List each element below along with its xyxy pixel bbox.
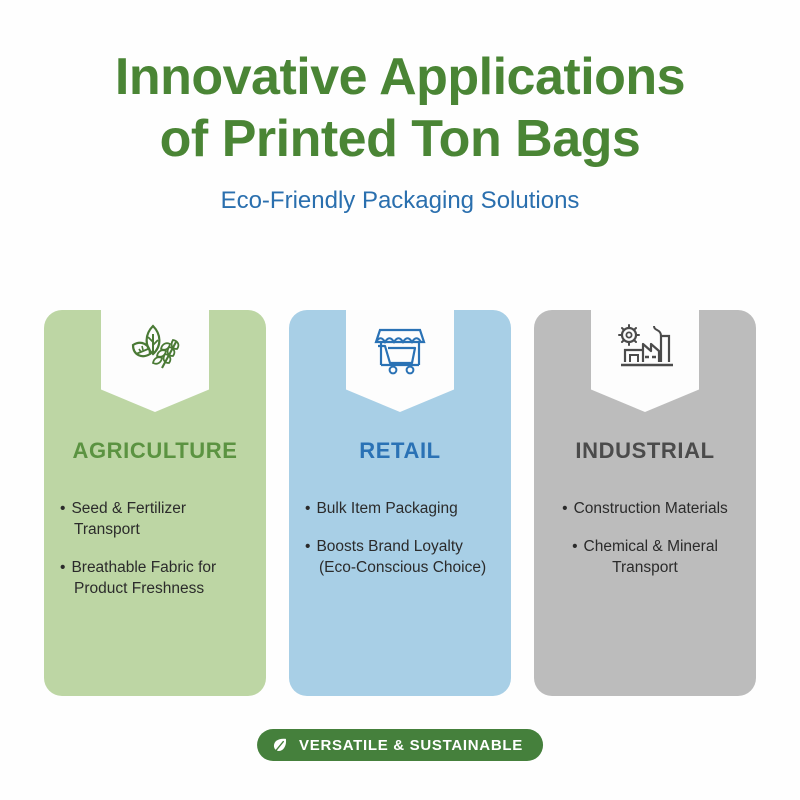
page-title: Innovative Applications of Printed Ton B… — [0, 46, 800, 170]
icon-banner-industrial — [591, 310, 699, 412]
leaf-icon — [271, 736, 289, 754]
list-item: Breathable Fabric for Product Freshness — [60, 557, 250, 599]
card-industrial: INDUSTRIAL Construction Materials Chemic… — [534, 310, 756, 696]
card-bullets-agriculture: Seed & Fertilizer Transport Breathable F… — [44, 498, 266, 599]
icon-banner-agriculture — [101, 310, 209, 412]
leaf-wheat-icon — [123, 318, 187, 378]
title-line-2: of Printed Ton Bags — [0, 108, 800, 170]
card-agriculture: AGRICULTURE Seed & Fertilizer Transport … — [44, 310, 266, 696]
list-item: Construction Materials — [550, 498, 740, 519]
badge-label: VERSATILE & SUSTAINABLE — [299, 737, 523, 754]
card-title-retail: RETAIL — [289, 438, 511, 464]
page-subtitle: Eco-Friendly Packaging Solutions — [0, 186, 800, 216]
card-title-agriculture: AGRICULTURE — [44, 438, 266, 464]
status-badge: VERSATILE & SUSTAINABLE — [257, 729, 543, 761]
title-line-1: Innovative Applications — [0, 46, 800, 108]
card-retail: RETAIL Bulk Item Packaging Boosts Brand … — [289, 310, 511, 696]
card-bullets-industrial: Construction Materials Chemical & Minera… — [534, 498, 756, 578]
card-bullets-retail: Bulk Item Packaging Boosts Brand Loyalty… — [289, 498, 511, 578]
icon-banner-retail — [346, 310, 454, 412]
list-item: Seed & Fertilizer Transport — [60, 498, 250, 540]
infographic-poster: Innovative Applications of Printed Ton B… — [0, 0, 800, 800]
card-title-industrial: INDUSTRIAL — [534, 438, 756, 464]
list-item: Boosts Brand Loyalty (Eco-Conscious Choi… — [305, 536, 495, 578]
market-stall-cart-icon — [368, 318, 432, 378]
card-row: AGRICULTURE Seed & Fertilizer Transport … — [44, 310, 756, 696]
header: Innovative Applications of Printed Ton B… — [0, 46, 800, 216]
list-item: Bulk Item Packaging — [305, 498, 495, 519]
list-item: Chemical & Mineral Transport — [550, 536, 740, 578]
factory-gear-icon — [613, 318, 677, 378]
